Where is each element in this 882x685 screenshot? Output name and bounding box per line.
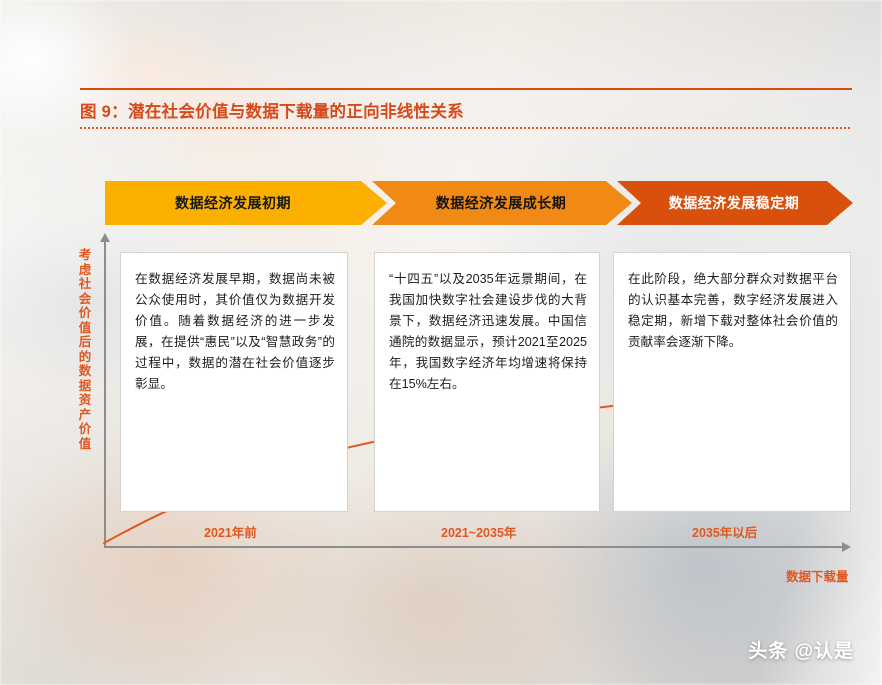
x-axis-arrow-icon (842, 542, 851, 552)
title-top-rule (80, 88, 852, 90)
stage-banner-early[interactable]: 数据经济发展初期 (105, 181, 387, 225)
y-axis-line (104, 240, 106, 548)
page-title: 图 9：潜在社会价值与数据下载量的正向非线性关系 (80, 98, 780, 122)
stage-banner-early-label: 数据经济发展初期 (175, 193, 291, 213)
panel-early: 在数据经济发展早期，数据尚未被公众使用时，其价值仅为数据开发价值。随着数据经济的… (120, 252, 348, 512)
panel-stable: 在此阶段，绝大部分群众对数据平台的认识基本完善，数字经济发展进入稳定期，新增下载… (613, 252, 851, 512)
watermark: 头条 @认是 (748, 636, 854, 663)
stage-banner-growth[interactable]: 数据经济发展成长期 (372, 181, 632, 225)
x-axis-title: 数据下载量 (786, 566, 849, 585)
stage-banner-growth-label: 数据经济发展成长期 (436, 193, 567, 213)
stage-label-after-2035: 2035年以后 (692, 522, 757, 541)
stage-label-2021-2035: 2021~2035年 (441, 522, 516, 541)
stage-label-before-2021: 2021年前 (204, 522, 257, 541)
y-axis-title: 考虑社会价值后的数据资产价值 (73, 248, 97, 451)
x-axis-line (104, 546, 844, 548)
title-dotted-rule (80, 127, 852, 129)
stage-banner-stable-label: 数据经济发展稳定期 (669, 193, 800, 213)
slide-canvas: 图 9：潜在社会价值与数据下载量的正向非线性关系 数据经济发展初期 数据经济发展… (0, 0, 882, 685)
y-axis-arrow-icon (100, 233, 110, 242)
panel-growth: “十四五”以及2035年远景期间，在我国加快数字社会建设步伐的大背景下，数据经济… (374, 252, 600, 512)
stage-banner-stable[interactable]: 数据经济发展稳定期 (617, 181, 853, 225)
